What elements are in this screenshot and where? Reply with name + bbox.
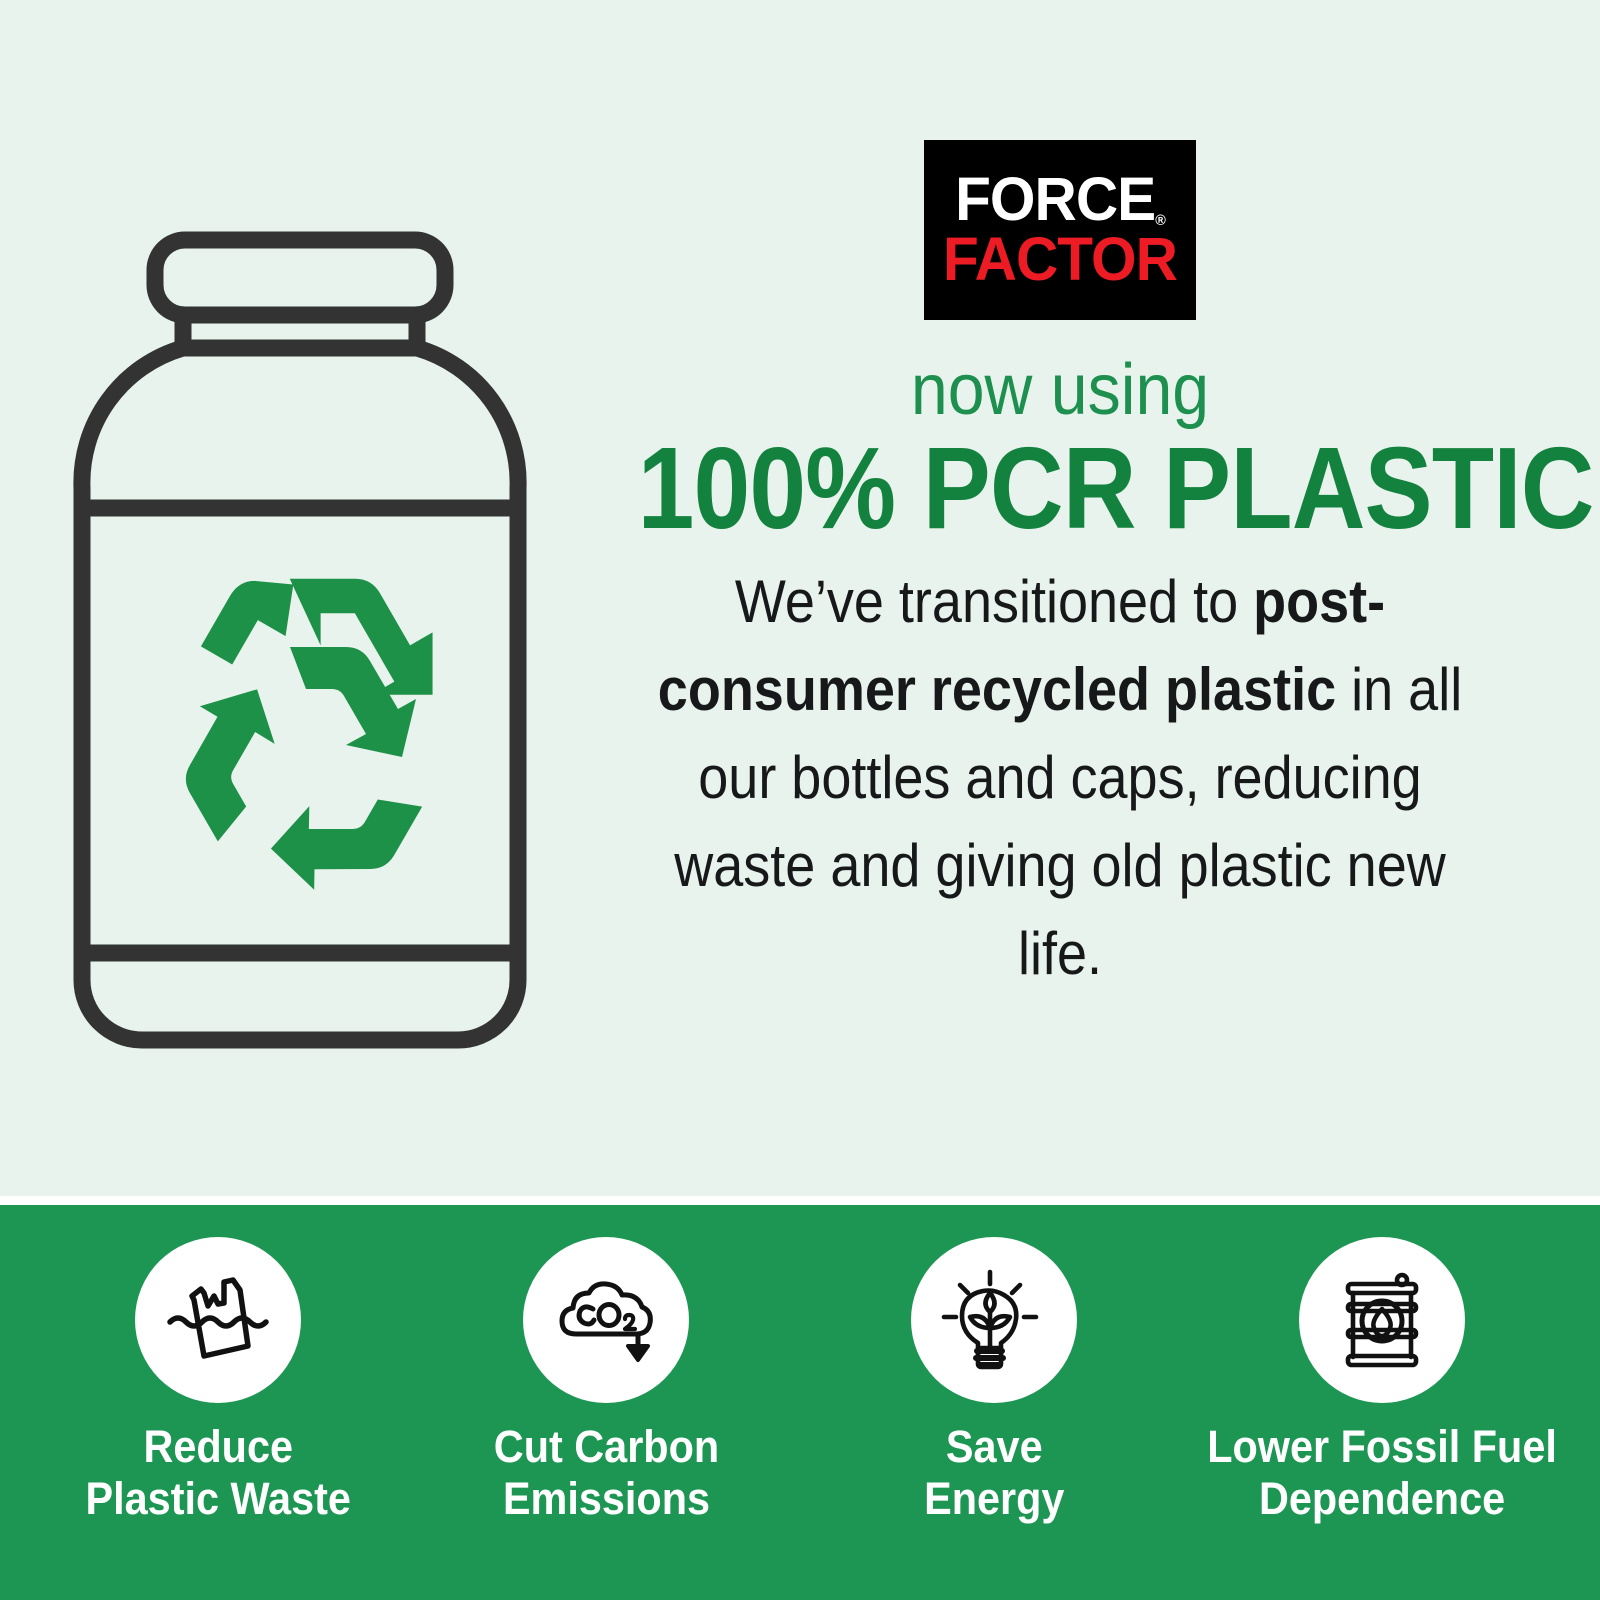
lightbulb-plant-icon <box>911 1237 1077 1403</box>
benefit-item-cut-carbon-emissions: Cut Carbon Emissions <box>412 1237 800 1525</box>
logo-word-factor: FACTOR <box>929 228 1190 290</box>
body-text-part1: We’ve transitioned to <box>735 568 1253 635</box>
benefit-label: Lower Fossil Fuel Dependence <box>1207 1421 1557 1525</box>
bottle-illustration <box>60 220 560 1090</box>
benefit-item-reduce-plastic-waste: Reduce Plastic Waste <box>24 1237 412 1525</box>
force-factor-logo: FORCE® FACTOR <box>924 140 1196 320</box>
hero-copy-column: FORCE® FACTOR now using 100% PCR PLASTIC… <box>580 140 1540 998</box>
bottle-svg <box>60 220 560 1090</box>
bottle-body <box>82 348 518 1040</box>
pcr-plastic-infographic: FORCE® FACTOR now using 100% PCR PLASTIC… <box>0 0 1600 1600</box>
body-paragraph: We’ve transitioned to post-consumer recy… <box>628 558 1492 998</box>
eyebrow-text: now using <box>618 352 1501 428</box>
logo-force-text: FORCE <box>955 165 1155 233</box>
bottle-cap <box>155 240 445 315</box>
oil-barrel-drop-icon <box>1299 1237 1465 1403</box>
benefit-item-lower-fossil-fuel-dependence: Lower Fossil Fuel Dependence <box>1188 1237 1576 1525</box>
benefit-label: Cut Carbon Emissions <box>493 1421 718 1525</box>
hero-section: FORCE® FACTOR now using 100% PCR PLASTIC… <box>0 0 1600 1202</box>
benefit-item-save-energy: Save Energy <box>800 1237 1188 1525</box>
page-title: 100% PCR PLASTIC <box>638 430 1483 546</box>
logo-word-force: FORCE® <box>929 168 1190 230</box>
benefits-band: Reduce Plastic Waste <box>0 1205 1600 1600</box>
benefit-label: Reduce Plastic Waste <box>85 1421 350 1525</box>
co2-cloud-down-arrow-icon <box>523 1237 689 1403</box>
benefits-list: Reduce Plastic Waste <box>0 1205 1600 1600</box>
section-divider <box>0 1196 1600 1205</box>
plastic-bag-in-water-icon <box>135 1237 301 1403</box>
benefit-label: Save Energy <box>924 1421 1064 1525</box>
